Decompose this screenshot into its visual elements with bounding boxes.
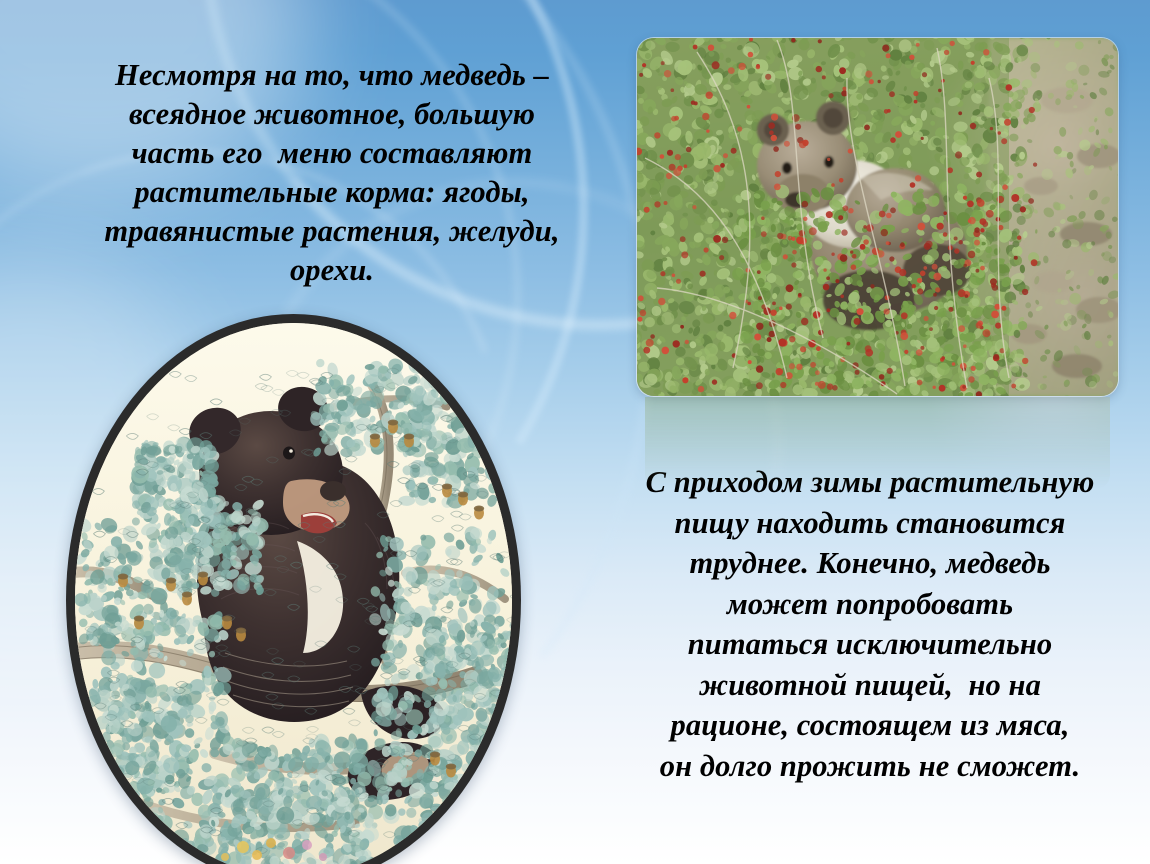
winter-paragraph: С приходом зимы растительную пищу находи… bbox=[600, 462, 1140, 787]
paragraph-line: может попробовать bbox=[600, 584, 1140, 625]
paragraph-line: рационе, состоящем из мяса, bbox=[600, 705, 1140, 746]
paragraph-line: Несмотря на то, что медведь – bbox=[52, 56, 612, 95]
paragraph-line: часть его меню составляют bbox=[52, 134, 612, 173]
paragraph-line: животной пищей, но на bbox=[600, 665, 1140, 706]
paragraph-line: всеядное животное, большую bbox=[52, 95, 612, 134]
paragraph-line: травянистые растения, желуди, bbox=[52, 212, 612, 251]
paragraph-line: он долго прожить не сможет. bbox=[600, 746, 1140, 787]
photo-scene bbox=[637, 38, 1118, 396]
slide-canvas: Несмотря на то, что медведь – всеядное ж… bbox=[0, 0, 1150, 864]
bear-in-oak-tree-oval bbox=[66, 314, 521, 864]
paragraph-line: питаться исключительно bbox=[600, 624, 1140, 665]
oval-artwork bbox=[75, 323, 512, 864]
paragraph-line: С приходом зимы растительную bbox=[600, 462, 1140, 503]
paragraph-line: пищу находить становится bbox=[600, 503, 1140, 544]
paragraph-line: орехи. bbox=[52, 251, 612, 290]
photo-artwork bbox=[637, 38, 1118, 396]
bear-cub-photo bbox=[637, 38, 1118, 396]
paragraph-line: растительные корма: ягоды, bbox=[52, 173, 612, 212]
paragraph-line: труднее. Конечно, медведь bbox=[600, 543, 1140, 584]
omnivore-paragraph: Несмотря на то, что медведь – всеядное ж… bbox=[52, 56, 612, 290]
bear-illustration bbox=[75, 323, 512, 864]
